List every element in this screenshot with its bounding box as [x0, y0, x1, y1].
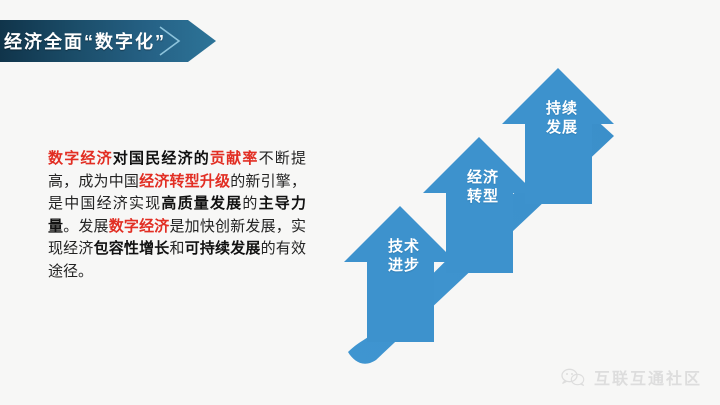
arrow-step-1-label-line1: 技术 — [388, 238, 420, 255]
paragraph-segment-10: 。发展 — [63, 218, 109, 235]
paragraph-segment-13: 包容性增长 — [94, 240, 170, 257]
arrow-step-3-label-line2: 发展 — [546, 119, 578, 136]
watermark-text: 互联互通社区 — [594, 365, 702, 389]
paragraph-segment-14: 和 — [169, 240, 184, 257]
paragraph-segment-1: 数字经济 — [48, 150, 113, 167]
paragraph-segment-11: 数字经济 — [109, 218, 170, 235]
paragraph-segment-5: 经济转型升级 — [139, 173, 230, 190]
arrow-step-2-label: 经济 转型 — [453, 168, 513, 206]
paragraph-segment-3: 贡献率 — [210, 150, 259, 167]
paragraph-segment-15: 可持续发展 — [185, 240, 261, 257]
paragraph-segment-8: 的 — [242, 195, 258, 212]
paragraph-segment-7: 高质量发展 — [161, 195, 242, 212]
slide-canvas: 经济全面“数字化” 数字经济对国民经济的贡献率不断提高，成为中国经济转型升级的新… — [0, 0, 720, 405]
watermark: 互联互通社区 — [560, 365, 702, 389]
arrow-step-2-label-line2: 转型 — [467, 188, 499, 205]
arrow-step-1-label-line2: 进步 — [388, 257, 420, 274]
arrow-step-1-label: 技术 进步 — [374, 237, 434, 275]
arrow-step-diagram: 技术 进步 经济 转型 持续 发展 — [330, 30, 650, 370]
arrow-step-3-label: 持续 发展 — [532, 99, 592, 137]
wechat-icon — [560, 367, 586, 387]
body-paragraph: 数字经济对国民经济的贡献率不断提高，成为中国经济转型升级的新引擎，是中国经济实现… — [48, 148, 306, 283]
arrow-step-2-label-line1: 经济 — [467, 169, 499, 186]
arrow-step-3-label-line1: 持续 — [546, 100, 578, 117]
paragraph-segment-2: 对国民经济的 — [113, 150, 210, 167]
header-banner: 经济全面“数字化” — [0, 20, 216, 62]
page-title: 经济全面“数字化” — [4, 20, 182, 62]
